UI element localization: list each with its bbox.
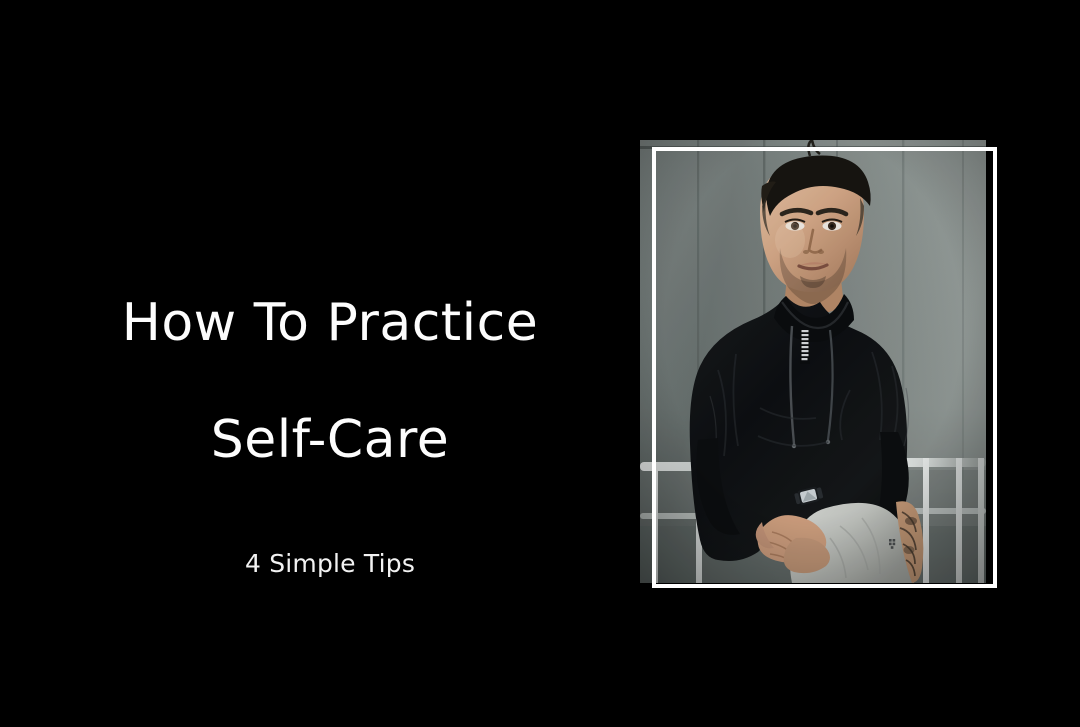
page-title-line-1: How To Practice <box>40 294 620 352</box>
page-title: How To Practice Self-Care <box>40 236 620 527</box>
page-title-line-2: Self-Care <box>40 411 620 469</box>
title-block: How To Practice Self-Care 4 Simple Tips <box>40 236 620 578</box>
slide-canvas: How To Practice Self-Care 4 Simple Tips <box>0 0 1080 727</box>
photo-area <box>640 140 1000 592</box>
page-subtitle: 4 Simple Tips <box>40 549 620 578</box>
portrait-photo <box>640 140 986 583</box>
